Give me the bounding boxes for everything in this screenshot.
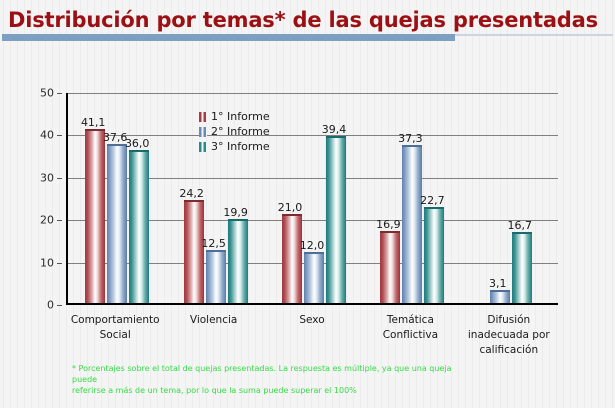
bar-value-label: 39,4: [322, 123, 347, 136]
chart-plot-area: [66, 93, 558, 305]
chart-bar: [129, 150, 149, 303]
y-axis-tick-mark: [57, 178, 62, 179]
chart-bar: [424, 207, 444, 303]
category-label-line: Violencia: [190, 313, 237, 328]
legend-swatch-icon: [199, 112, 207, 122]
y-axis-tick-label: 20: [14, 214, 54, 227]
y-axis-tick-mark: [57, 93, 62, 94]
chart-bar: [304, 252, 324, 303]
x-axis-category-label: Sexo: [299, 313, 324, 328]
category-label-line: inadecuada por: [468, 328, 550, 343]
y-axis-tick-mark: [57, 263, 62, 264]
category-label-line: Difusión: [468, 313, 550, 328]
footnote-line-2: referirse a más de un tema, por lo que l…: [72, 385, 472, 396]
chart-bar: [402, 145, 422, 303]
x-axis-category-label: Difusióninadecuada porcalificación: [468, 313, 550, 358]
bar-cap: [228, 219, 248, 221]
chart-bar: [282, 214, 302, 303]
bar-cap: [402, 145, 422, 147]
chart-bar: [228, 219, 248, 303]
bar-value-label: 3,1: [489, 277, 507, 290]
bar-cap: [282, 214, 302, 216]
bar-cap: [380, 231, 400, 233]
bar-value-label: 41,1: [81, 116, 106, 129]
bar-cap: [206, 250, 226, 252]
title-underline-bar: [2, 34, 455, 41]
y-axis: 01020304050: [0, 93, 62, 305]
bar-cap: [424, 207, 444, 209]
y-axis-tick-label: 0: [14, 299, 54, 312]
gridline: [68, 93, 558, 94]
bar-value-label: 37,3: [398, 132, 423, 145]
category-label-line: Conflictiva: [383, 328, 438, 343]
y-axis-tick-mark: [57, 135, 62, 136]
bar-cap: [129, 150, 149, 152]
legend-label: 2° Informe: [211, 125, 270, 138]
x-axis-category-label: ComportamientoSocial: [71, 313, 160, 343]
legend-swatch-icon: [199, 127, 207, 137]
bar-value-label: 12,5: [201, 237, 226, 250]
bar-value-label: 21,0: [278, 201, 303, 214]
y-axis-tick-label: 10: [14, 256, 54, 269]
category-label-line: Temática: [383, 313, 438, 328]
bar-value-label: 24,2: [179, 187, 204, 200]
bar-value-label: 36,0: [125, 137, 150, 150]
y-axis-tick-mark: [57, 305, 62, 306]
bar-cap: [326, 136, 346, 138]
plot-inner: [68, 93, 558, 303]
y-axis-tick-label: 40: [14, 129, 54, 142]
legend-item-series-2: 2° Informe: [199, 125, 270, 138]
title-block: Distribución por temas* de las quejas pr…: [0, 8, 615, 32]
title-underline-bar-tail: [455, 34, 613, 36]
legend-item-series-1: 1° Informe: [199, 110, 270, 123]
y-axis-tick-label: 50: [14, 87, 54, 100]
category-label-line: Social: [71, 328, 160, 343]
chart-bar: [326, 136, 346, 303]
chart-bar: [184, 200, 204, 303]
chart-bar: [107, 144, 127, 303]
legend-swatch-icon: [199, 142, 207, 152]
legend-label: 1° Informe: [211, 110, 270, 123]
bar-value-label: 19,9: [223, 206, 248, 219]
footnote-line-1: * Porcentajes sobre el total de quejas p…: [72, 363, 472, 385]
chart-bar: [490, 290, 510, 303]
category-label-line: Comportamiento: [71, 313, 160, 328]
chart-bar: [380, 231, 400, 303]
x-axis-category-label: TemáticaConflictiva: [383, 313, 438, 343]
bar-value-label: 37,6: [103, 131, 128, 144]
bar-cap: [184, 200, 204, 202]
y-axis-tick-label: 30: [14, 171, 54, 184]
bar-cap: [304, 252, 324, 254]
page-title: Distribución por temas* de las quejas pr…: [0, 8, 615, 32]
x-axis-category-label: Violencia: [190, 313, 237, 328]
chart-bar: [206, 250, 226, 303]
chart-legend: 1° Informe 2° Informe 3° Informe: [199, 110, 270, 153]
bar-value-label: 22,7: [420, 194, 445, 207]
bar-value-label: 12,0: [300, 239, 325, 252]
chart-bar: [512, 232, 532, 303]
legend-label: 3° Informe: [211, 140, 270, 153]
bar-value-label: 16,9: [376, 218, 401, 231]
legend-item-series-3: 3° Informe: [199, 140, 270, 153]
footnote: * Porcentajes sobre el total de quejas p…: [72, 363, 472, 396]
category-label-line: Sexo: [299, 313, 324, 328]
chart-bar: [85, 129, 105, 303]
bar-cap: [512, 232, 532, 234]
y-axis-tick-mark: [57, 220, 62, 221]
gridline: [68, 135, 558, 136]
bar-cap: [490, 290, 510, 292]
bar-value-label: 16,7: [508, 219, 533, 232]
category-label-line: calificación: [468, 343, 550, 358]
